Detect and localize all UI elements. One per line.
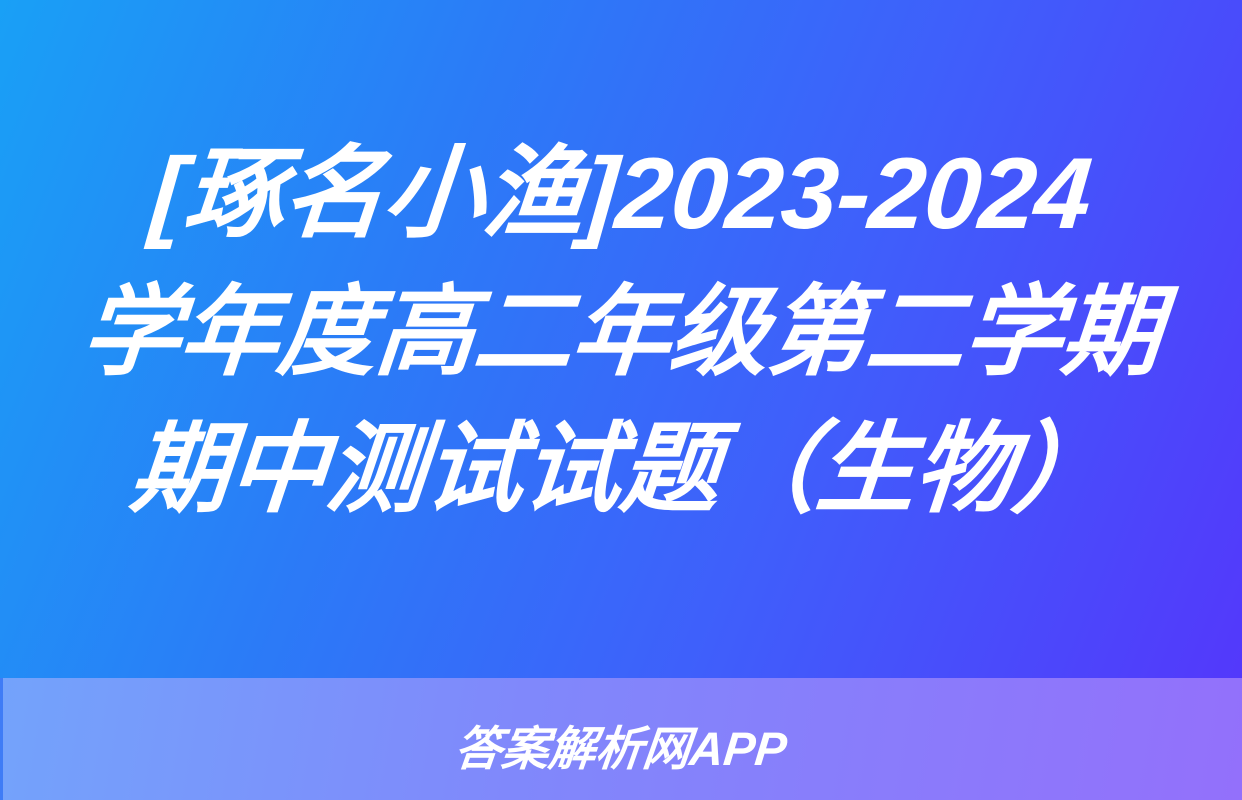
footer-watermark-band: 答案解析网APP [0, 678, 1242, 800]
title-line-2: 学年度高二年级第二学期 [76, 264, 1166, 401]
title-block: [琢名小渔]2023-2024 学年度高二年级第二学期 期中测试试题（生物） [0, 0, 1242, 678]
watermark-text: 答案解析网APP [453, 725, 790, 772]
title-line-1: [琢名小渔]2023-2024 [145, 125, 1096, 264]
title-line-3: 期中测试试题（生物） [125, 401, 1117, 538]
exam-title-card: [琢名小渔]2023-2024 学年度高二年级第二学期 期中测试试题（生物） 答… [0, 0, 1242, 800]
